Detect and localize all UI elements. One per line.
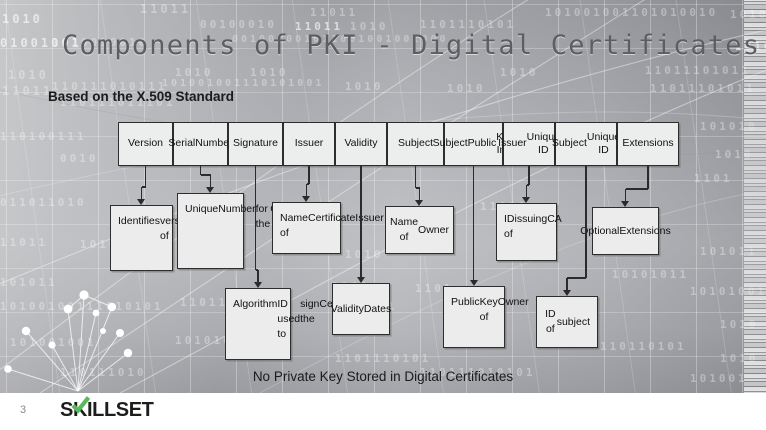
certificate-field-detail-3: AlgorithmID used tosign theCertificate	[225, 288, 291, 360]
page-title: Components of PKI - Digital Certificates	[62, 30, 760, 61]
connector-arrowhead	[254, 282, 262, 288]
certificate-field-header-1: Version	[118, 122, 173, 166]
connector-arrowhead	[621, 201, 629, 207]
certificate-field-header-4: Issuer	[283, 122, 335, 166]
connector-line	[626, 188, 649, 189]
certificate-field-detail-2: UniqueNumberfor theCertificate	[177, 193, 244, 269]
connector-line	[257, 270, 258, 282]
certificate-field-detail-10: OptionalExtensions	[592, 207, 659, 255]
connector-line	[526, 185, 527, 197]
certificate-field-header-8: IssuerUnique ID	[503, 122, 555, 166]
connector-line	[145, 166, 146, 187]
connector-line	[255, 166, 256, 270]
connector-line	[528, 166, 529, 185]
certificate-field-header-10: Extensions	[617, 122, 679, 166]
connector-arrowhead	[563, 290, 571, 296]
connector-line	[647, 166, 648, 189]
connector-arrowhead	[206, 187, 214, 193]
connector-arrowhead	[137, 199, 145, 205]
connector-line	[625, 189, 626, 201]
connector-line	[567, 277, 586, 278]
page-number: 3	[20, 404, 26, 416]
connector-line	[566, 278, 567, 290]
connector-line	[210, 175, 211, 187]
connector-arrowhead	[522, 197, 530, 203]
brand-logo: SKILLSET	[60, 400, 153, 420]
connector-line	[419, 188, 420, 200]
connector-arrowhead	[357, 277, 365, 283]
certificate-field-detail-1: Identifiesversion ofcertificate	[110, 205, 173, 271]
connector-line	[141, 187, 142, 199]
certificate-field-detail-9: ID ofsubject	[536, 296, 598, 348]
connector-line	[473, 166, 474, 280]
connector-line	[415, 166, 416, 188]
certificate-field-detail-5: ValidityDates	[332, 283, 390, 335]
certificate-field-header-3: Signature	[228, 122, 283, 166]
connector-line	[360, 166, 361, 277]
connector-arrowhead	[415, 200, 423, 206]
connector-line	[585, 166, 586, 278]
certificate-field-header-5: Validity	[335, 122, 387, 166]
certificate-field-detail-4: Name ofCertificateIssuer	[272, 202, 341, 254]
certificate-field-detail-7: PublicKey ofOwner	[443, 286, 505, 348]
connector-line	[308, 166, 309, 184]
slide-subtitle: Based on the X.509 Standard	[48, 89, 234, 104]
connector-arrowhead	[302, 196, 310, 202]
connector-line	[306, 184, 307, 196]
certificate-field-detail-8: ID ofissuingCA	[496, 203, 557, 261]
checkmark-icon	[71, 395, 90, 414]
certificate-field-detail-6: Name ofOwner	[385, 206, 454, 254]
slide-footnote: No Private Key Stored in Digital Certifi…	[0, 369, 766, 384]
connector-arrowhead	[470, 280, 478, 286]
certificate-field-header-7: SubjectPublicKey Info	[444, 122, 503, 166]
certificate-field-header-9: SubjectUnique ID	[555, 122, 617, 166]
certificate-field-header-2: SerialNumber	[173, 122, 228, 166]
slide-canvas: 1101111011101001001101010010101010100010…	[0, 0, 766, 430]
